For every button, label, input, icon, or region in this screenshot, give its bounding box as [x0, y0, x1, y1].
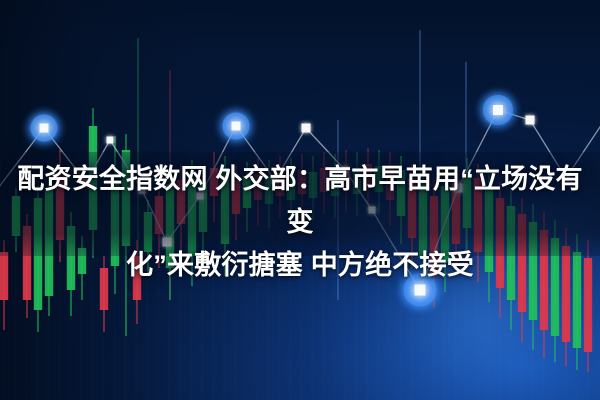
headline-line-2: 化”来敷衍搪塞 中方绝不接受 [8, 244, 592, 287]
banner-image: 配资安全指数网 外交部：高市早苗用“立场没有变 化”来敷衍搪塞 中方绝不接受 [0, 0, 600, 400]
headline: 配资安全指数网 外交部：高市早苗用“立场没有变 化”来敷衍搪塞 中方绝不接受 [0, 158, 600, 287]
headline-line-1: 配资安全指数网 外交部：高市早苗用“立场没有变 [8, 158, 592, 244]
